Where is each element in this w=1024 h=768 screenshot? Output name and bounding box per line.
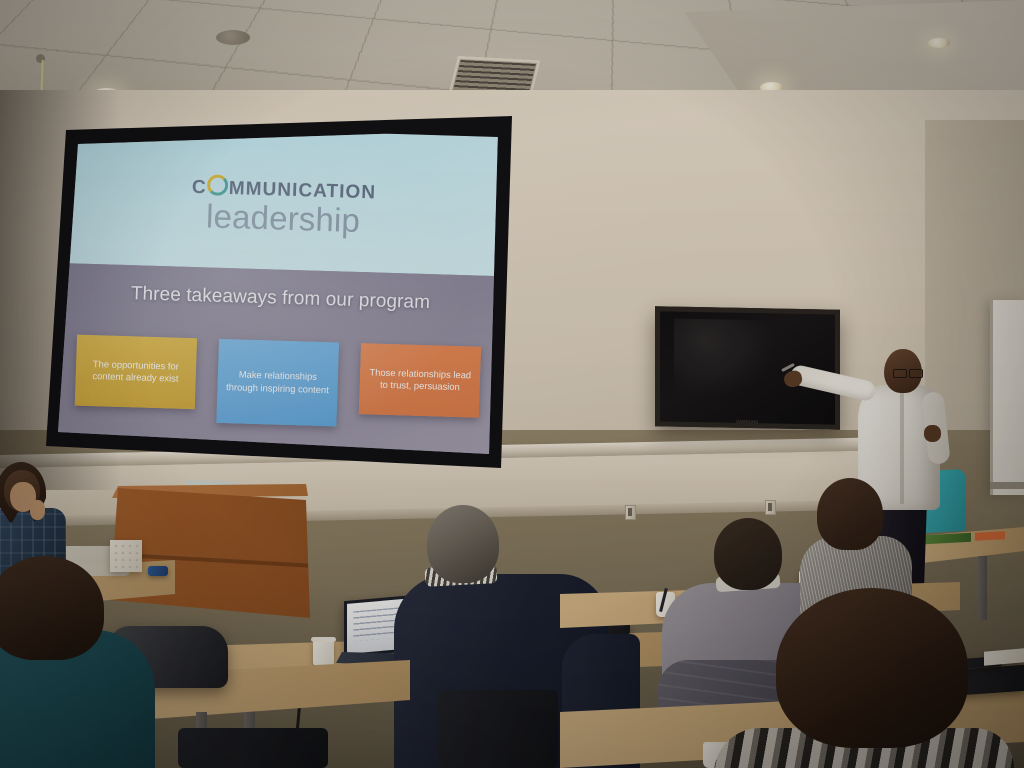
attendee-woman-left-hand [30, 500, 45, 520]
glasses-icon [893, 369, 923, 376]
logo-letter-c: C [192, 177, 207, 198]
presentation-slide: CMMUNICATION leadership Three takeaways … [53, 124, 508, 476]
task-chair [178, 728, 328, 768]
smartphone [148, 566, 168, 576]
coffee-cup [313, 640, 334, 667]
projection-screen: CMMUNICATION leadership Three takeaways … [46, 116, 516, 476]
whiteboard [990, 300, 1024, 495]
attendee-gray-head [714, 518, 782, 590]
tissue-box-pattern [112, 542, 140, 570]
takeaway-box-3: Those relationships lead to trust, persu… [359, 343, 481, 418]
whiteboard-marker-tray [990, 482, 1024, 489]
attendee-navy-head [427, 505, 499, 583]
projection-screen-surface: CMMUNICATION leadership Three takeaways … [46, 116, 516, 476]
takeaway-box-1: The opportunities for content already ex… [75, 334, 197, 409]
tv-reflection [674, 318, 776, 399]
takeaway-box-2: Make relationships through inspiring con… [216, 339, 338, 427]
presenter-shirt-placket [900, 392, 904, 504]
orange-pad [975, 531, 1005, 541]
tissue-box [110, 540, 142, 572]
screen-cord-anchor [36, 54, 45, 63]
coffee-cup-lid [311, 637, 336, 642]
wall-outlet [625, 505, 636, 520]
presenter-left-hand [924, 425, 941, 442]
attendee-marled-hair [817, 478, 883, 550]
takeaway-box-row: The opportunities for content already ex… [74, 334, 481, 430]
wall-outlet [765, 500, 776, 515]
ceiling-speaker [216, 30, 250, 45]
conference-room-photo: CMMUNICATION leadership Three takeaways … [0, 0, 1024, 768]
task-chair [438, 690, 558, 768]
tv-brand-mark: SAMSUNG [736, 419, 758, 424]
table-leg [978, 556, 987, 620]
recessed-downlight [928, 38, 950, 48]
logo-o-ring-icon [207, 174, 229, 196]
attendee-striped-hair [776, 588, 968, 748]
